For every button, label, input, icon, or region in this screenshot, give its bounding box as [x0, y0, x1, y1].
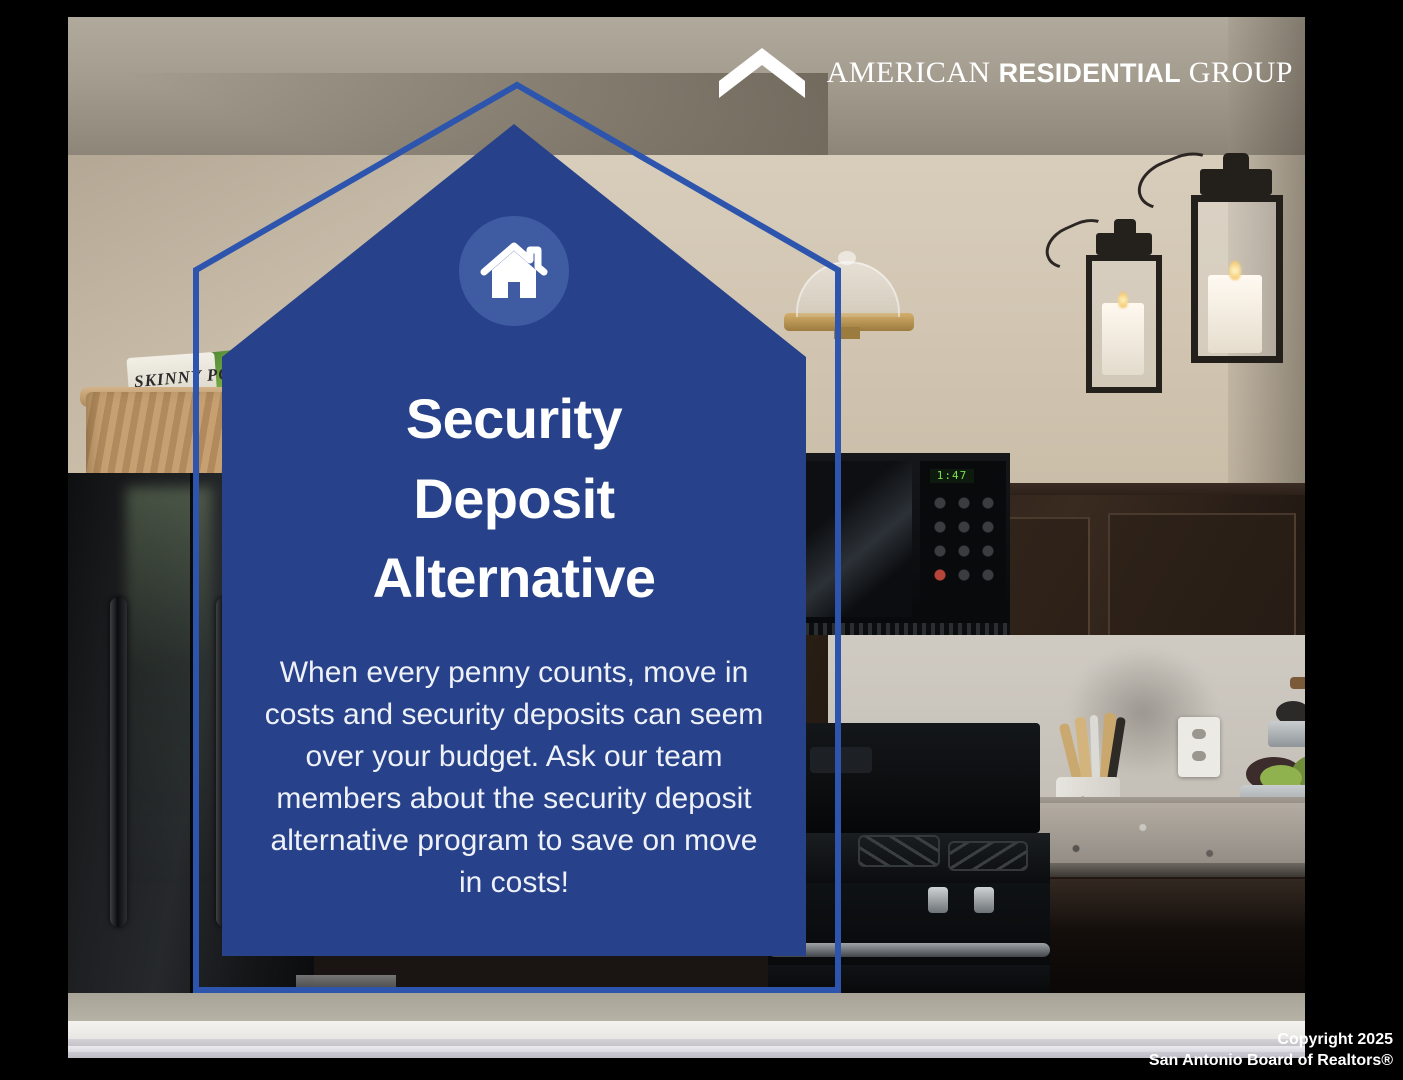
photo-candle-flame-large	[1229, 261, 1241, 280]
photo-cake-stand-stem	[834, 327, 860, 339]
photo-sill-white	[68, 1021, 1305, 1041]
photo-stove-backguard	[802, 723, 1040, 833]
copyright-notice: Copyright 2025 San Antonio Board of Real…	[1149, 1029, 1393, 1072]
photo-candle-flame-small	[1118, 292, 1128, 308]
photo-outlet-socket-top	[1192, 729, 1206, 739]
photo-candle-large	[1208, 275, 1262, 353]
equal-housing-logo: EQUAL HOUSING OPPORTUNITY	[1300, 967, 1305, 1038]
page-title: Security Deposit Alternative	[222, 379, 806, 618]
photo-tray-handle	[1290, 677, 1305, 689]
brand-name-bold: RESIDENTIAL	[999, 58, 1181, 88]
photo-wall-outlet	[1178, 717, 1220, 777]
photo-lantern-large-cap	[1200, 169, 1272, 195]
photo-stove-knob-right	[974, 887, 994, 913]
photo-refrigerator-seam	[190, 473, 193, 1017]
title-line-3: Alternative	[222, 538, 806, 618]
brand-name-prefix: AMERICAN	[827, 56, 999, 89]
photo-ceiling-shadow	[68, 73, 828, 159]
title-line-2: Deposit	[222, 459, 806, 539]
photo-tray-tier-top	[1268, 721, 1305, 747]
title-line-1: Security	[222, 379, 806, 459]
brand-name-suffix: GROUP	[1181, 56, 1293, 89]
photo-sill-ridge-3	[68, 1052, 1305, 1058]
brand-name: AMERICAN RESIDENTIAL GROUP	[827, 56, 1293, 90]
photo-microwave-display: 1:47	[930, 469, 974, 483]
copyright-line-1: Copyright 2025	[1149, 1029, 1393, 1051]
copyright-line-2: San Antonio Board of Realtors®	[1149, 1050, 1393, 1072]
chevron-roof-icon	[719, 48, 805, 98]
card-body-text: When every penny counts, move in costs a…	[256, 652, 772, 904]
photo-stove-control-pad	[810, 747, 872, 773]
brand-logo: AMERICAN RESIDENTIAL GROUP	[719, 48, 1293, 98]
photo-stove-knob-left	[928, 887, 948, 913]
poster-canvas: SKINNY POP	[0, 0, 1403, 1080]
home-icon	[478, 238, 550, 304]
photo-refrigerator-handle-left	[110, 597, 127, 927]
photo-outlet-socket-bottom	[1192, 751, 1206, 761]
photo-refrigerator-base	[296, 975, 396, 993]
photo-burner-grate-left	[858, 835, 940, 867]
photo-refrigerator-gleam	[126, 487, 212, 887]
home-badge	[459, 216, 569, 326]
photo-oven-handle	[768, 943, 1050, 957]
photo-glass-dome-knob	[838, 251, 856, 265]
photo-sill-upper	[68, 993, 1305, 1023]
photo-lantern-small-cap	[1096, 233, 1152, 255]
photo-burner-grate-right	[948, 841, 1028, 871]
photo-candle-small	[1102, 303, 1144, 375]
photo-microwave-keypad	[928, 493, 998, 605]
